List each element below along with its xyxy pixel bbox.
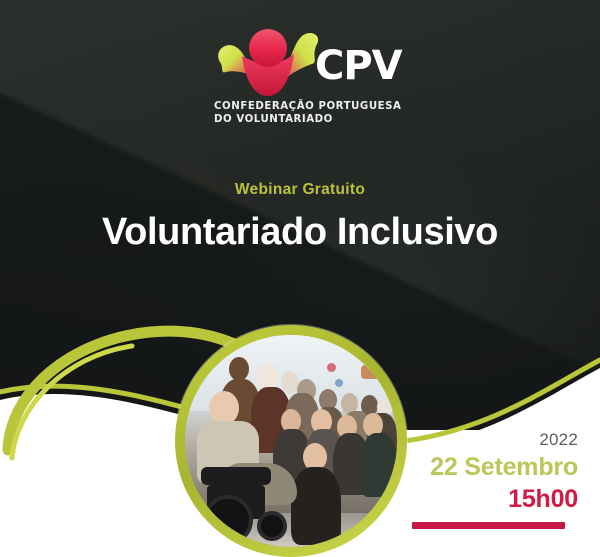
accent-rule: [412, 522, 565, 529]
decor-dot: [335, 379, 343, 387]
event-time: 15h00: [508, 485, 578, 514]
cpv-logo: CPV CONFEDERAÇÃO PORTUGUESA DO VOLUNTARI…: [212, 26, 402, 132]
cpv-subtitle-line2: DO VOLUNTARIADO: [214, 113, 406, 126]
webinar-kicker: Webinar Gratuito: [0, 181, 600, 199]
event-year: 2022: [539, 430, 578, 450]
group-photo-ring: [175, 325, 407, 557]
group-volunteers-photo: [185, 335, 397, 547]
wheelchair-wheel: [257, 511, 287, 541]
cpv-wordmark: CPV: [315, 46, 402, 86]
person-body: [361, 433, 397, 497]
person-body: [291, 467, 341, 545]
cpv-person-logo-svg: [212, 26, 330, 98]
decor-dot: [327, 363, 336, 372]
wheelchair-wheel: [203, 495, 253, 545]
wheelchair-seat: [201, 467, 271, 485]
event-date: 22 Setembro: [430, 453, 578, 482]
person-head: [229, 357, 249, 381]
person-head: [209, 391, 239, 425]
cpv-person-logo-icon: [212, 26, 330, 98]
decor-shape: [361, 365, 383, 379]
webinar-poster: CPV CONFEDERAÇÃO PORTUGUESA DO VOLUNTARI…: [0, 0, 600, 557]
cpv-subtitle: CONFEDERAÇÃO PORTUGUESA DO VOLUNTARIADO: [214, 100, 406, 126]
group-photo-scene: [185, 335, 397, 547]
person-head: [257, 363, 279, 389]
cpv-subtitle-line1: CONFEDERAÇÃO PORTUGUESA: [214, 100, 406, 113]
page-title: Voluntariado Inclusivo: [0, 211, 600, 254]
